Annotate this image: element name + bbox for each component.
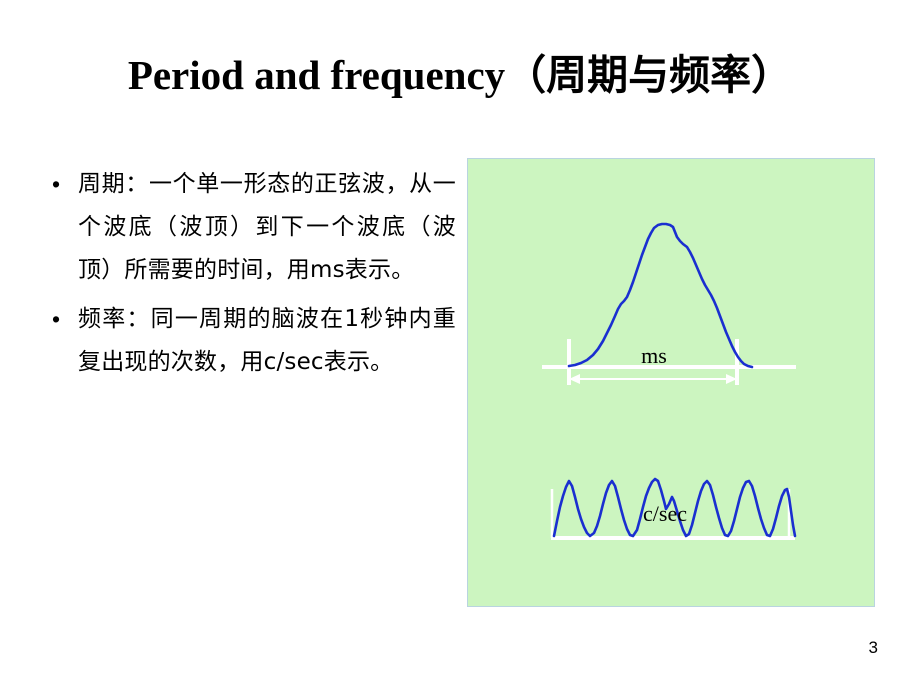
wave-scratch — [569, 251, 642, 366]
page-title: Period and frequency（周期与频率） — [30, 52, 890, 99]
frequency-label: c/sec — [643, 501, 687, 526]
bullet-list: • 周期：一个单一形态的正弦波，从一个波底（波顶）到下一个波底（波顶）所需要的时… — [48, 163, 456, 390]
slide-canvas: Period and frequency（周期与频率） • 周期：一个单一形态的… — [0, 0, 920, 690]
single-period-group: ms — [542, 224, 796, 385]
bullet-marker-icon: • — [48, 298, 78, 341]
frequency-group: c/sec — [551, 479, 795, 538]
bullet-marker-icon: • — [48, 163, 78, 206]
bullet-text-frequency: 频率：同一周期的脑波在1秒钟内重复出现的次数，用c/sec表示。 — [78, 298, 456, 384]
bullet-text-period: 周期：一个单一形态的正弦波，从一个波底（波顶）到下一个波底（波顶）所需要的时间，… — [78, 163, 456, 292]
period-label: ms — [641, 343, 667, 368]
list-item: • 频率：同一周期的脑波在1秒钟内重复出现的次数，用c/sec表示。 — [48, 298, 456, 384]
waveform-diagram: ms c/sec — [468, 159, 875, 607]
page-number: 3 — [869, 638, 878, 658]
waveform-figure-panel: ms c/sec — [467, 158, 875, 607]
list-item: • 周期：一个单一形态的正弦波，从一个波底（波顶）到下一个波底（波顶）所需要的时… — [48, 163, 456, 292]
